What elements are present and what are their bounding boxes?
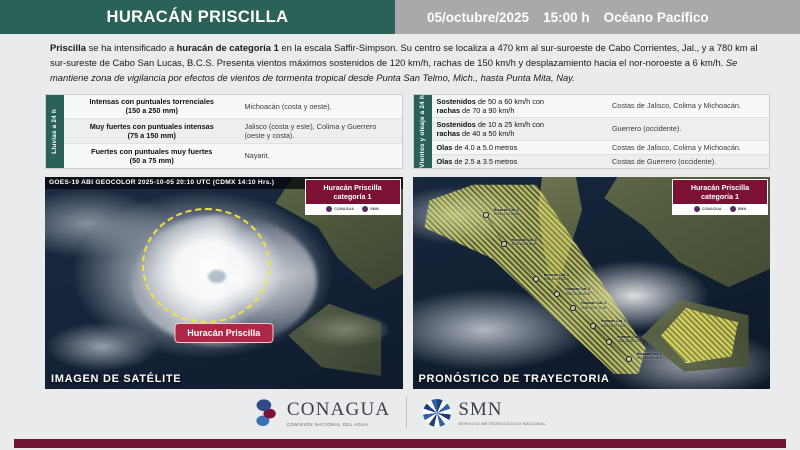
- table-row: Olas de 2.5 a 3.5 metros Costas de Guerr…: [432, 154, 770, 168]
- conagua-logo-block: CONAGUA COMISIÓN NACIONAL DEL AGUA: [254, 398, 390, 428]
- wind-zone-cell: Costas de Jalisco, Colima y Michoacán.: [607, 95, 769, 118]
- forecast-tables: Lluvias a 24 h Intensas con puntuales to…: [45, 94, 770, 169]
- badge-line-1: Huracán Priscilla: [306, 180, 400, 192]
- badge-smn-label: SMN: [370, 207, 379, 211]
- image-panels: GOES-19 ABI GEOCOLOR 2025-10-05 20:10 UT…: [45, 177, 770, 389]
- badge-logos: CONAGUA SMN: [673, 204, 767, 214]
- rain-table: Intensas con puntuales torrenciales (150…: [64, 95, 402, 168]
- smn-mark-icon: [362, 206, 368, 212]
- wind-condition-cell: Olas de 2.5 a 3.5 metros: [432, 154, 608, 168]
- table-row: Sostenidos de 50 a 60 km/h con rachas de…: [432, 95, 770, 118]
- badge-conagua-logo: CONAGUA: [326, 206, 354, 212]
- rain-table-wrapper: Lluvias a 24 h Intensas con puntuales to…: [45, 94, 403, 169]
- wind-zone-cell: Guerrero (occidente).: [607, 117, 769, 140]
- footer-logos: CONAGUA COMISIÓN NACIONAL DEL AGUA SMN S…: [0, 390, 800, 436]
- summary-category: huracán de categoría 1: [177, 42, 279, 53]
- track-point-label: Huracán Cat. 22025-10-07 12:00: [581, 301, 606, 310]
- table-row: Fuertes con puntuales muy fuertes (50 a …: [64, 143, 402, 167]
- wind-table-side-label: Vientos y oleaje a 24 h: [414, 95, 432, 168]
- rain-range-2: (50 a 75 mm): [130, 156, 174, 165]
- wind-val-1b: de 40 a 50 km/h: [460, 129, 514, 138]
- rain-side-text: Lluvias a 24 h: [51, 109, 59, 154]
- header-basin: Océano Pacífico: [604, 10, 709, 25]
- badge-conagua-label: CONAGUA: [702, 207, 722, 211]
- rain-condition-2: Fuertes con puntuales muy fuertes: [91, 147, 212, 156]
- category-badge: Huracán Priscilla categoría 1 CONAGUA SM…: [305, 179, 401, 215]
- category-badge: Huracán Priscilla categoría 1 CONAGUA SM…: [672, 179, 768, 215]
- smn-subtitle: SERVICIO METEOROLÓGICO NACIONAL: [458, 421, 546, 426]
- wind-key-1a: Sostenidos: [437, 120, 476, 129]
- table-row: Sostenidos de 10 a 25 km/h con rachas de…: [432, 117, 770, 140]
- rain-zone-cell: Jalisco (costa y este), Colima y Guerrer…: [240, 119, 402, 144]
- wind-val-0a: de 50 a 60 km/h con: [476, 97, 544, 106]
- rain-table-side-label: Lluvias a 24 h: [46, 95, 64, 168]
- wind-condition-cell: Olas de 4.0 a 5.0 metros: [432, 140, 608, 154]
- header-title-block: HURACÁN PRISCILLA: [0, 0, 395, 34]
- wind-key-0a: Sostenidos: [437, 97, 476, 106]
- header-meta-block: 05/octubre/2025 15:00 h Océano Pacífico: [395, 0, 800, 34]
- footer-divider: [406, 397, 407, 429]
- hurricane-circle-marker-icon: [142, 208, 271, 322]
- satellite-panel: GOES-19 ABI GEOCOLOR 2025-10-05 20:10 UT…: [45, 177, 403, 389]
- badge-line-1: Huracán Priscilla: [673, 180, 767, 192]
- rain-zone-cell: Michoacán (costa y oeste).: [240, 95, 402, 119]
- smn-swirl-icon: [423, 399, 451, 427]
- table-row: Olas de 4.0 a 5.0 metros Costas de Jalis…: [432, 140, 770, 154]
- satellite-timestamp: GOES-19 ABI GEOCOLOR 2025-10-05 20:10 UT…: [45, 179, 274, 186]
- rain-condition-cell: Muy fuertes con puntuales intensas (75 a…: [64, 119, 240, 144]
- conagua-subtitle: COMISIÓN NACIONAL DEL AGUA: [287, 422, 390, 427]
- table-row: Muy fuertes con puntuales intensas (75 a…: [64, 119, 402, 144]
- wind-val-3a: de 2.5 a 3.5 metros: [452, 157, 517, 166]
- conagua-mark-icon: [326, 206, 332, 212]
- track-point-label: Huracán Cat. 12025-10-06 12:00: [617, 335, 642, 344]
- badge-logos: CONAGUA SMN: [306, 204, 400, 214]
- bulletin-page: HURACÁN PRISCILLA 05/octubre/2025 15:00 …: [0, 0, 800, 450]
- trajectory-panel: Huracán Cat. 12025-10-05 15:00Huracán Ca…: [413, 177, 771, 389]
- badge-line-2: categoría 1: [673, 192, 767, 204]
- smn-logo-block: SMN SERVICIO METEOROLÓGICO NACIONAL: [423, 399, 546, 427]
- badge-conagua-label: CONAGUA: [334, 207, 354, 211]
- header-time: 15:00 h: [543, 10, 590, 25]
- conagua-logo-text: CONAGUA COMISIÓN NACIONAL DEL AGUA: [287, 399, 390, 427]
- track-point: [483, 212, 489, 218]
- badge-line-2: categoría 1: [306, 192, 400, 204]
- conagua-eagle-icon: [254, 398, 280, 428]
- satellite-caption: IMAGEN DE SATÉLITE: [45, 370, 403, 389]
- conagua-name: CONAGUA: [287, 399, 390, 421]
- rain-condition-cell: Fuertes con puntuales muy fuertes (50 a …: [64, 143, 240, 167]
- wind-condition-cell: Sostenidos de 50 a 60 km/h con rachas de…: [432, 95, 608, 118]
- summary-paragraph: Priscilla se ha intensificado a huracán …: [50, 41, 768, 86]
- wind-val-2a: de 4.0 a 5.0 metros: [452, 143, 517, 152]
- summary-text-1: se ha intensificado a: [86, 42, 177, 53]
- trajectory-caption: PRONÓSTICO DE TRAYECTORIA: [413, 370, 771, 389]
- rain-condition-cell: Intensas con puntuales torrenciales (150…: [64, 95, 240, 119]
- rain-range-1: (75 a 150 mm): [128, 131, 176, 140]
- track-point-label: Huracán Cat. 32025-10-09 00:00: [512, 238, 537, 247]
- page-title: HURACÁN PRISCILLA: [107, 8, 289, 27]
- wind-zone-cell: Costas de Guerrero (occidente).: [607, 154, 769, 168]
- wind-key-2a: Olas: [437, 143, 453, 152]
- track-point-label: Huracán Cat. 12025-10-07 00:00: [601, 319, 626, 328]
- bottom-accent-bar: [14, 439, 786, 448]
- wind-side-text: Vientos y oleaje a 24 h: [419, 95, 427, 168]
- rain-condition-0: Intensas con puntuales torrenciales: [90, 97, 215, 106]
- rain-range-0: (150 a 250 mm): [126, 106, 178, 115]
- wind-val-1a: de 10 a 25 km/h con: [476, 120, 544, 129]
- wind-key-3a: Olas: [437, 157, 453, 166]
- badge-smn-logo: SMN: [362, 206, 379, 212]
- track-point: [626, 356, 632, 362]
- page-header: HURACÁN PRISCILLA 05/octubre/2025 15:00 …: [0, 0, 800, 34]
- smn-logo-text: SMN SERVICIO METEOROLÓGICO NACIONAL: [458, 399, 546, 426]
- track-point-label: Huracán Cat. 22025-10-08 00:00: [565, 287, 590, 296]
- summary-storm-name: Priscilla: [50, 42, 86, 53]
- rain-condition-1: Muy fuertes con puntuales intensas: [90, 122, 214, 131]
- track-point-label: Huracán Cat. 32025-10-10 00:00: [494, 208, 519, 217]
- wind-val-0b: de 70 a 90 km/h: [460, 106, 514, 115]
- wind-table-wrapper: Vientos y oleaje a 24 h Sostenidos de 50…: [413, 94, 771, 169]
- track-point-label: Huracán Cat. 12025-10-05 15:00: [637, 352, 662, 361]
- track-point-label: Huracán Cat. 32025-10-08 12:00: [544, 273, 569, 282]
- rain-zone-cell: Nayarit.: [240, 143, 402, 167]
- wind-key-0b: rachas: [437, 106, 461, 115]
- wind-key-1b: rachas: [437, 129, 461, 138]
- smn-mark-icon: [730, 206, 736, 212]
- conagua-mark-icon: [694, 206, 700, 212]
- badge-conagua-logo: CONAGUA: [694, 206, 722, 212]
- table-row: Intensas con puntuales torrenciales (150…: [64, 95, 402, 119]
- badge-smn-logo: SMN: [730, 206, 747, 212]
- header-date: 05/octubre/2025: [427, 10, 529, 25]
- wind-condition-cell: Sostenidos de 10 a 25 km/h con rachas de…: [432, 117, 608, 140]
- badge-smn-label: SMN: [738, 207, 747, 211]
- wind-table: Sostenidos de 50 a 60 km/h con rachas de…: [432, 95, 770, 168]
- hurricane-name-pill: Huracán Priscilla: [174, 323, 273, 343]
- smn-name: SMN: [458, 399, 546, 421]
- wind-zone-cell: Costas de Jalisco, Colima y Michoacán.: [607, 140, 769, 154]
